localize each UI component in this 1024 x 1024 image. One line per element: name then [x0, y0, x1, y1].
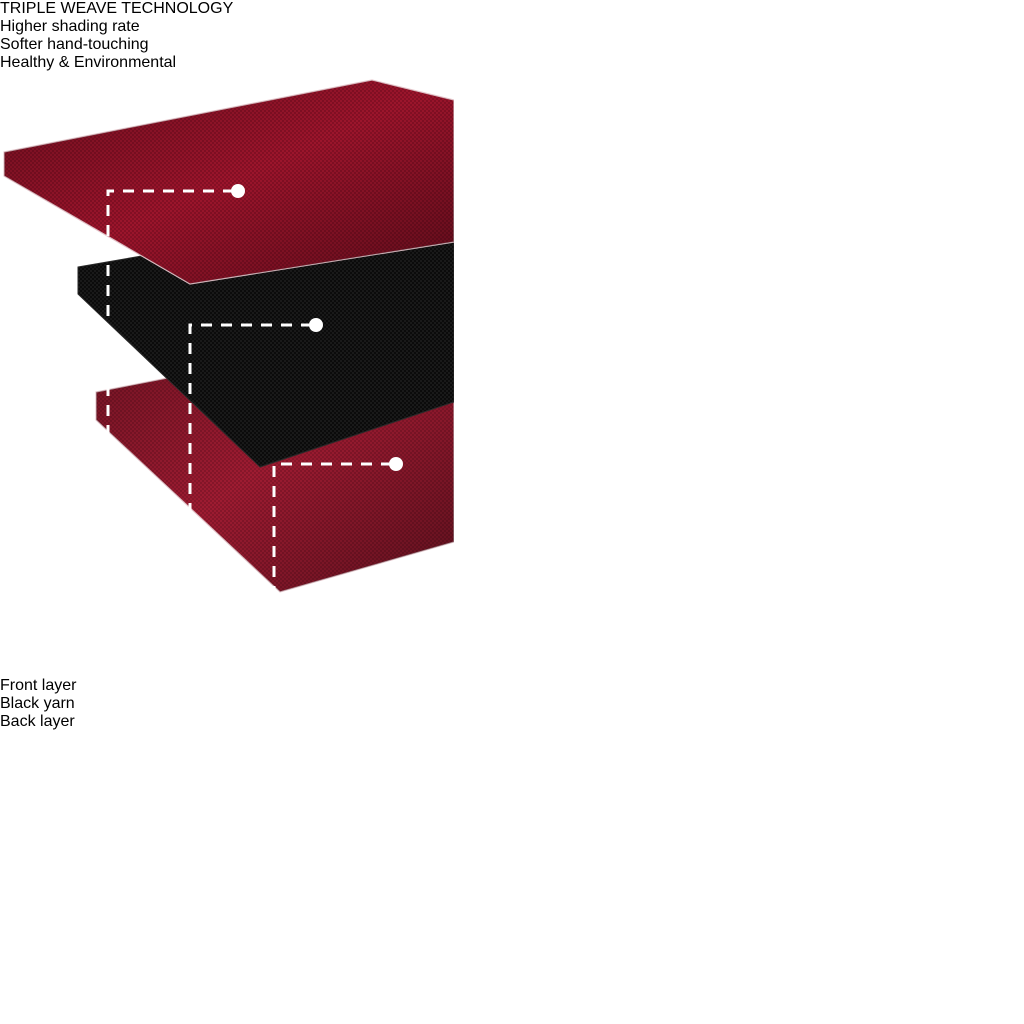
feature-label: Higher shading rate: [0, 18, 140, 35]
feature-label: Healthy & Environmental: [0, 54, 176, 71]
feature-label: Softer hand-touching: [0, 36, 149, 53]
curtain-background-image: [203, 0, 1024, 1024]
product-infographic: TRIPLE WEAVE TECHNOLOGY Higher shading r…: [0, 0, 1024, 1024]
